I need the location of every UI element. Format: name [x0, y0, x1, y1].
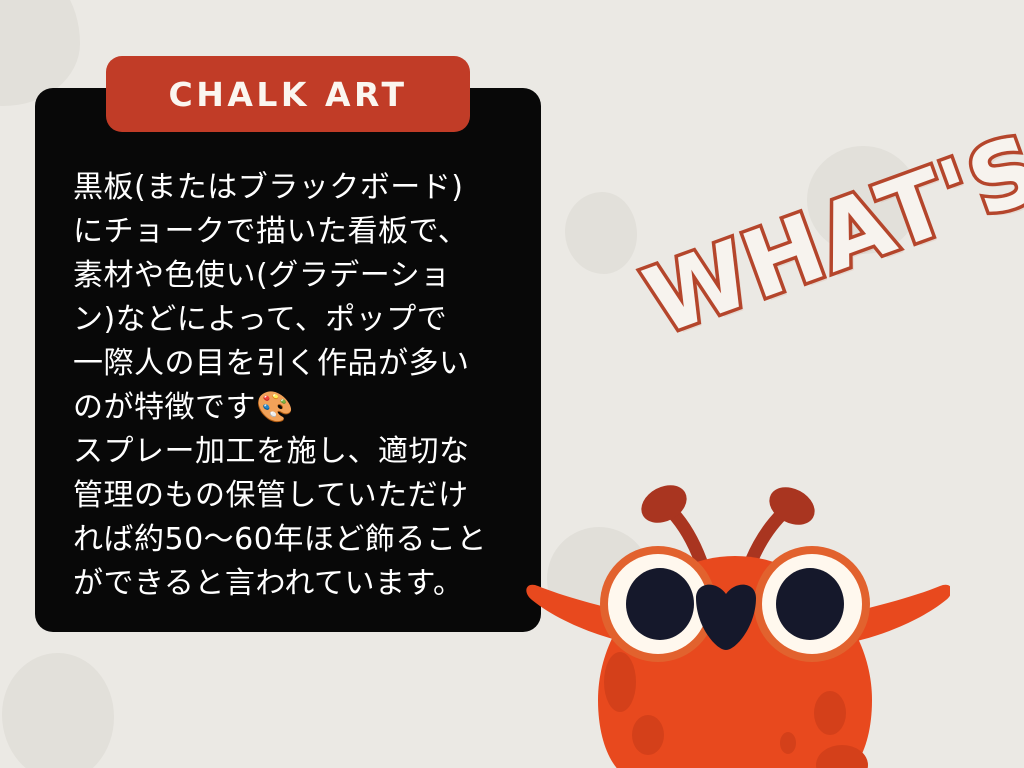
mascot-pupil-right: [776, 568, 844, 640]
mascot-character: [520, 420, 950, 768]
description-card: 黒板(またはブラックボード) にチョークで描いた看板で、 素材や色使い(グラデー…: [35, 88, 541, 632]
background-blob-bottom-left: [2, 653, 114, 768]
mascot-pupil-left: [626, 568, 694, 640]
description-text: 黒板(またはブラックボード) にチョークで描いた看板で、 素材や色使い(グラデー…: [35, 166, 541, 606]
mascot-spot: [632, 715, 664, 755]
title-badge: CHALK ART: [106, 56, 470, 132]
headline-whats: WHAT'S?: [632, 95, 1024, 355]
mascot-spot: [604, 652, 636, 712]
poster-canvas: 黒板(またはブラックボード) にチョークで描いた看板で、 素材や色使い(グラデー…: [0, 0, 1024, 768]
background-blob-middle: [565, 192, 637, 274]
mascot-spot: [780, 732, 796, 754]
headline-whats-label: WHAT'S?: [632, 95, 1024, 355]
title-badge-label: CHALK ART: [169, 75, 408, 114]
mascot-eye-right: [754, 546, 870, 662]
mascot-spot: [814, 691, 846, 735]
